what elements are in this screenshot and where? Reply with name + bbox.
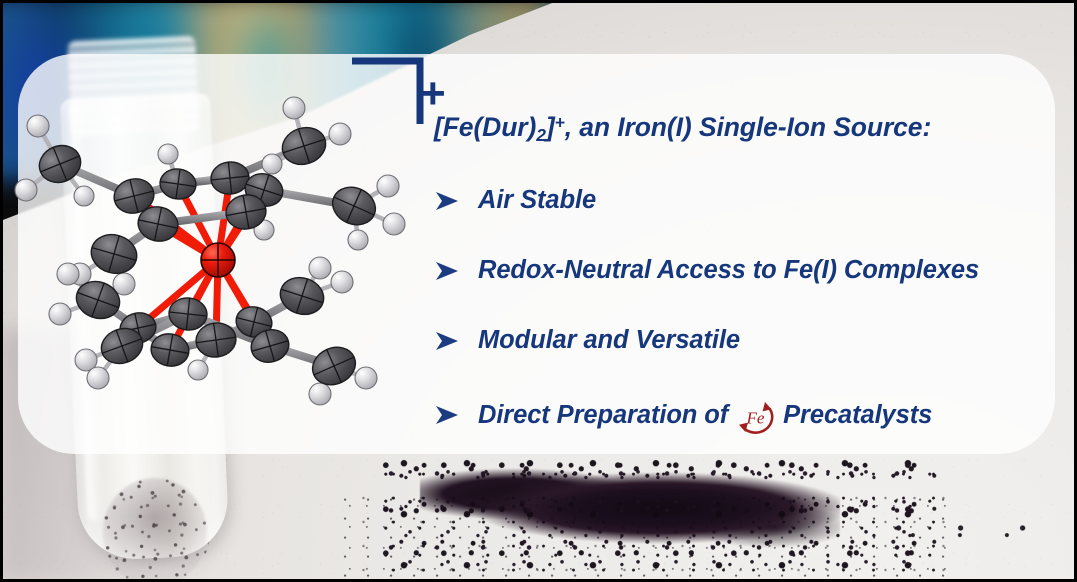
charge-plus-sign: +	[420, 72, 446, 116]
list-item: Modular and Versatile	[434, 326, 740, 355]
arrowhead-icon	[434, 330, 478, 352]
title-subscript: 2	[536, 125, 546, 145]
spilled-powder	[380, 452, 940, 572]
title-prefix: [Fe(Dur)	[434, 112, 536, 142]
title-bracket-close: ]	[546, 112, 555, 142]
powder-scatter-right	[880, 512, 1030, 564]
list-item: Direct Preparation of Fe Precatalysts	[434, 396, 932, 434]
bullet-label: Air Stable	[478, 186, 596, 215]
bullet-label-after: Precatalysts	[783, 401, 932, 430]
figure-title: [Fe(Dur)2]+, an Iron(I) Single-Ion Sourc…	[434, 112, 1054, 146]
bullet-label-before: Direct Preparation of	[478, 401, 728, 430]
bullet-label: Modular and Versatile	[478, 326, 740, 355]
iron-center-atom	[201, 243, 235, 277]
fe-cycle-svg: Fe	[735, 398, 776, 436]
ortep-svg	[2, 78, 432, 408]
title-superscript: +	[555, 113, 565, 133]
powder-dust	[340, 492, 960, 582]
list-item: Air Stable	[434, 186, 596, 215]
text-block: [Fe(Dur)2]+, an Iron(I) Single-Ion Sourc…	[434, 112, 1054, 146]
graphical-abstract-figure: + [Fe(Dur)2]+, an Iron(I) Single-Ion Sou…	[0, 0, 1077, 582]
catalytic-cycle-icon: Fe	[735, 398, 776, 436]
arrowhead-icon	[434, 404, 478, 426]
ortep-crystal-structure	[2, 78, 432, 408]
arrowhead-icon	[434, 190, 478, 212]
list-item: Redox-Neutral Access to Fe(I) Complexes	[434, 256, 979, 285]
title-suffix: , an Iron(I) Single-Ion Source:	[565, 112, 931, 142]
svg-text:Fe: Fe	[746, 409, 765, 428]
bullet-label: Redox-Neutral Access to Fe(I) Complexes	[478, 256, 979, 285]
arrowhead-icon	[434, 260, 478, 282]
